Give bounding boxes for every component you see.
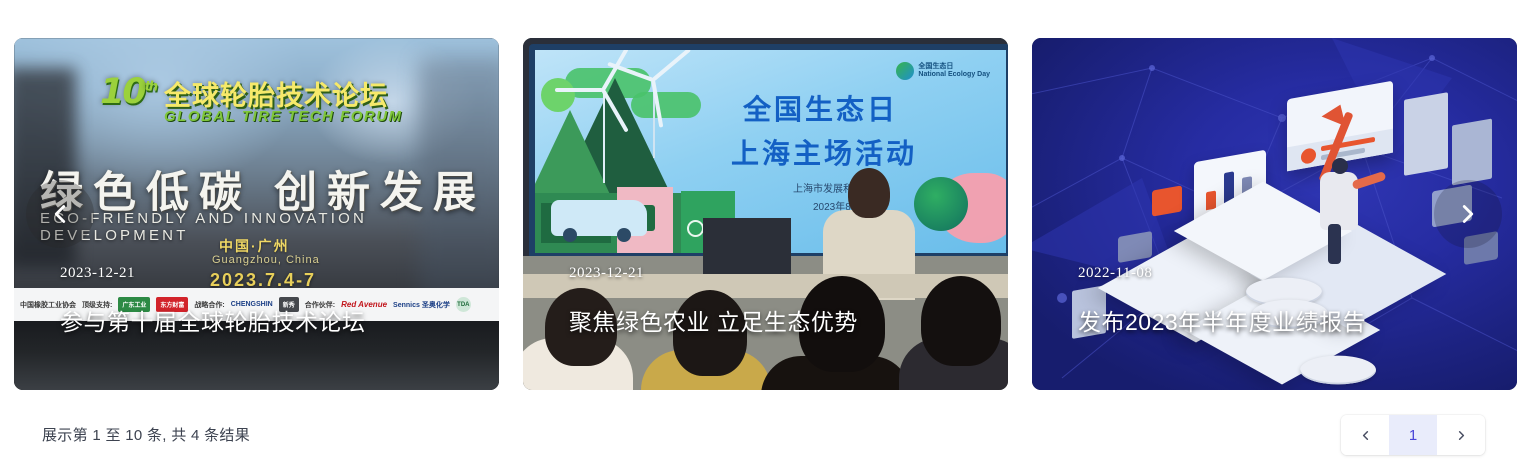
logo-text-en: National Ecology Day <box>918 71 990 78</box>
slide-1-title: 参与第十届全球轮胎技术论坛 <box>60 303 366 337</box>
pagination-prev-button[interactable] <box>1341 415 1389 455</box>
poster-edition: 10th <box>100 72 156 112</box>
carousel-slide-2[interactable]: 全国生态日 上海主场活动 上海市发展和改革委 2023年8月 全国生态日 Nat… <box>523 38 1008 390</box>
slide-2-date: 2023-12-21 <box>569 265 644 282</box>
chevron-left-icon <box>45 199 75 229</box>
audience-head-4 <box>921 276 1001 366</box>
poster-location-cn: 中国·广州 <box>219 236 290 256</box>
screen-title-line1: 全国生态日 <box>743 88 898 128</box>
speaker-head <box>848 168 890 218</box>
logo-text-cn: 全国生态日 <box>918 63 953 70</box>
wind-turbine-icon <box>603 88 605 183</box>
pagination-next-button[interactable] <box>1437 415 1485 455</box>
block-right-1 <box>1404 92 1448 176</box>
recycle-icon <box>914 177 968 231</box>
footer: 展示第 1 至 10 条, 共 4 条结果 1 <box>0 400 1533 471</box>
carousel-track: 10th 全球轮胎技术论坛 GLOBAL TIRE TECH FORUM 绿色低… <box>14 38 1519 390</box>
block-right-2 <box>1452 118 1492 185</box>
news-carousel-page: 10th 全球轮胎技术论坛 GLOBAL TIRE TECH FORUM 绿色低… <box>0 0 1533 471</box>
carousel-next-button[interactable] <box>1434 180 1502 248</box>
poster-edition-number: 10 <box>100 72 145 112</box>
electric-car-icon <box>551 200 647 236</box>
coin-stack-3 <box>1300 356 1376 385</box>
poster-headline-en: GLOBAL TIRE TECH FORUM <box>164 108 403 125</box>
sponsor-logo-6: TDA <box>456 297 471 312</box>
screen-title-line2: 上海主场活动 <box>731 132 917 172</box>
ecology-day-logo: 全国生态日 National Ecology Day <box>896 62 990 80</box>
slide-3-title: 发布2023年半年度业绩报告 <box>1078 303 1366 337</box>
slide-1-date: 2023-12-21 <box>60 265 135 282</box>
chevron-left-icon <box>1358 428 1373 443</box>
carousel: 10th 全球轮胎技术论坛 GLOBAL TIRE TECH FORUM 绿色低… <box>0 0 1533 400</box>
logo-globe-icon <box>896 62 914 80</box>
result-count-text: 展示第 1 至 10 条, 共 4 条结果 <box>42 424 250 445</box>
slide-2-title: 聚焦绿色农业 立足生态优势 <box>569 303 858 337</box>
chevron-right-icon <box>1453 199 1483 229</box>
wind-turbine-icon-2 <box>653 78 655 158</box>
poster-location-en: Guangzhou, China <box>212 254 320 266</box>
carousel-prev-button[interactable] <box>26 180 94 248</box>
person-head <box>1332 158 1348 174</box>
pagination-page-1[interactable]: 1 <box>1389 415 1437 455</box>
slide-3-date: 2022-11-08 <box>1078 265 1152 282</box>
sponsor-logo-5: Sennics 圣奥化学 <box>393 300 450 310</box>
chip-orange <box>1152 185 1182 216</box>
pagination: 1 <box>1341 415 1485 455</box>
slide-2-image: 全国生态日 上海主场活动 上海市发展和改革委 2023年8月 全国生态日 Nat… <box>523 38 1008 390</box>
person-leg <box>1328 224 1341 264</box>
chevron-right-icon <box>1454 428 1469 443</box>
poster-edition-suffix: th <box>145 79 156 94</box>
